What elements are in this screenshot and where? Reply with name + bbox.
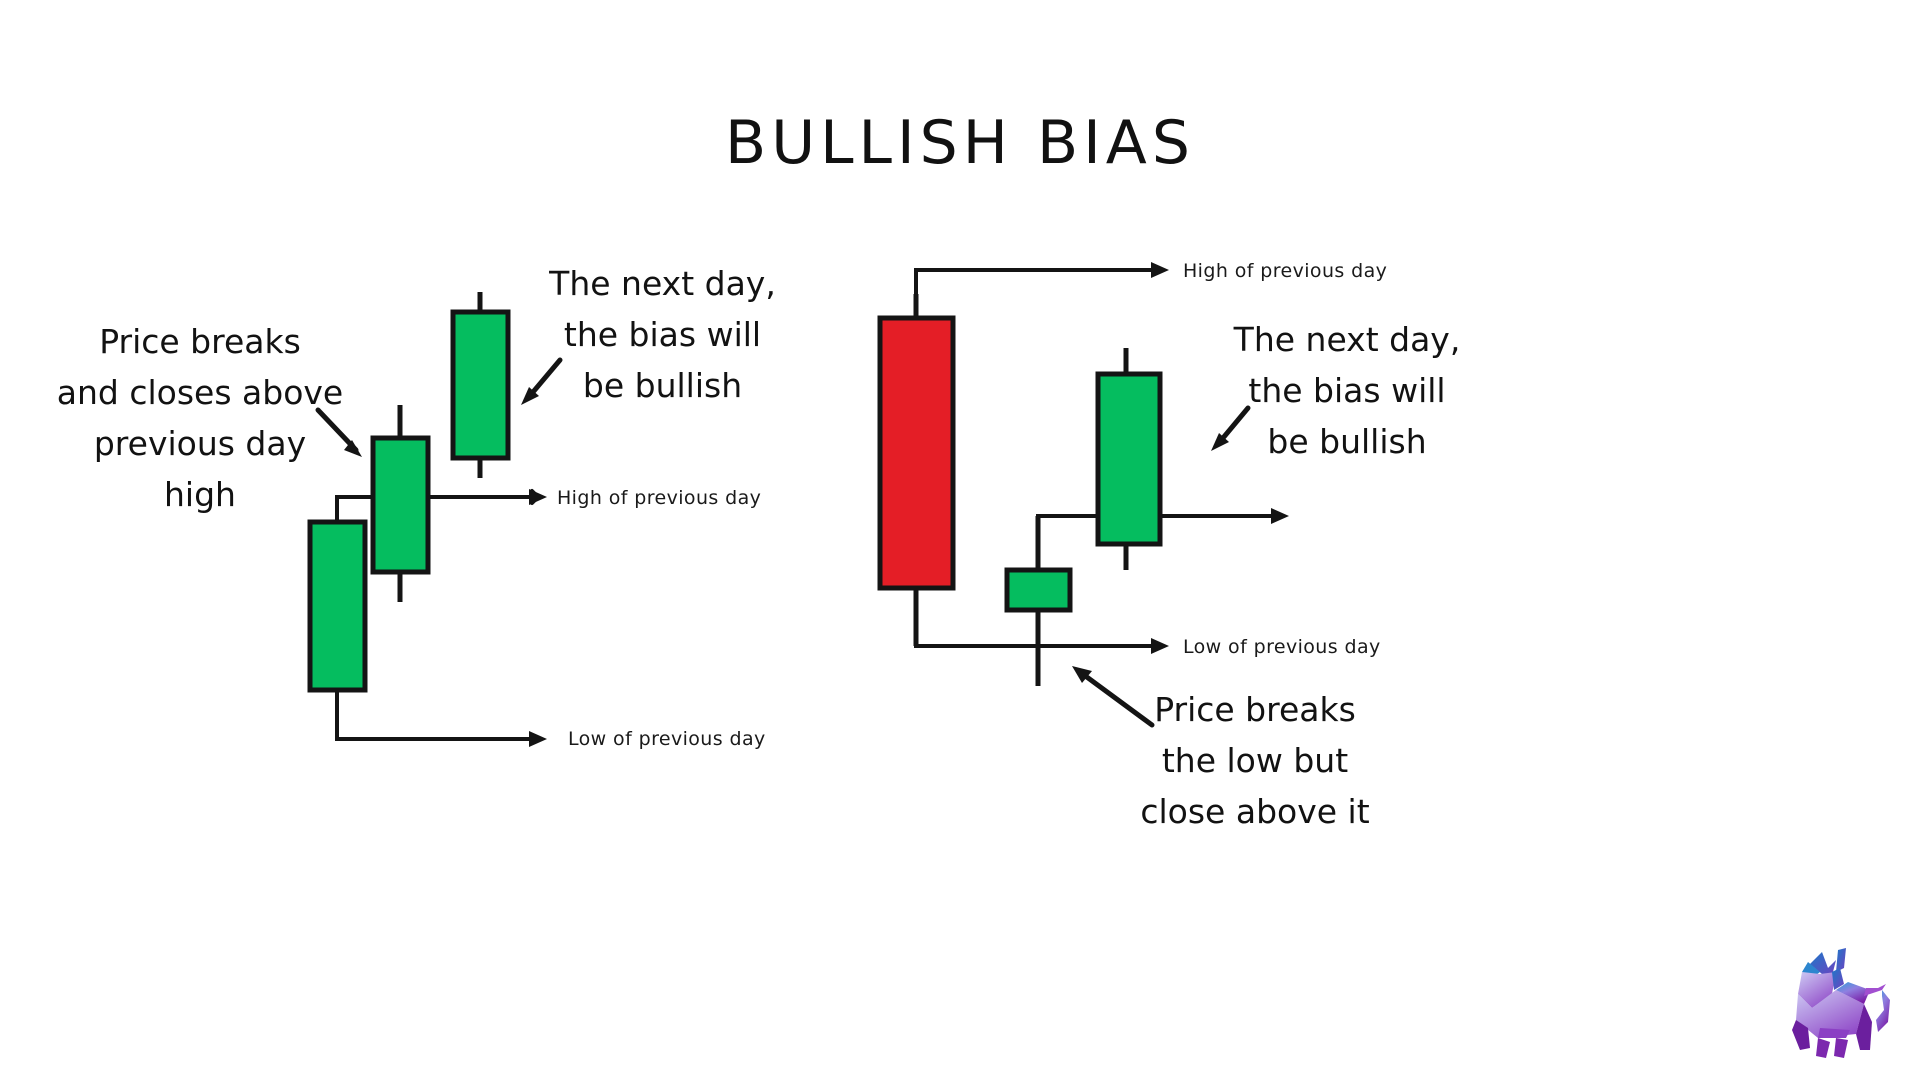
left-label-low-of-previous-day: Low of previous day xyxy=(568,728,766,750)
right-high-reference-line xyxy=(916,262,1169,318)
bull-logo xyxy=(1778,938,1906,1066)
right-candle-next-day xyxy=(1098,348,1160,570)
left-candle-breakout-day xyxy=(373,405,428,602)
right-break-arrow-icon xyxy=(1072,666,1152,725)
left-breakout-arrow-icon xyxy=(318,410,362,457)
right-candle-break-day xyxy=(1007,516,1070,686)
right-label-high-of-previous-day: High of previous day xyxy=(1183,260,1387,282)
slide-canvas: BULLISH BIAS Price breaks and closes abo… xyxy=(0,0,1920,1080)
right-label-low-of-previous-day: Low of previous day xyxy=(1183,636,1381,658)
page-title: BULLISH BIAS xyxy=(0,108,1920,178)
left-low-reference-line xyxy=(337,690,547,747)
left-label-high-of-previous-day: High of previous day xyxy=(557,487,761,509)
left-candlestick-chart xyxy=(300,250,770,770)
left-candle-previous-day xyxy=(310,522,365,690)
right-mid-reference-line xyxy=(1038,508,1289,570)
left-bias-arrow-icon xyxy=(521,360,560,405)
right-candle-previous-day xyxy=(880,294,953,646)
left-high-reference-line xyxy=(337,489,547,522)
left-candle-next-day xyxy=(453,292,508,478)
right-bias-arrow-icon xyxy=(1211,408,1248,451)
